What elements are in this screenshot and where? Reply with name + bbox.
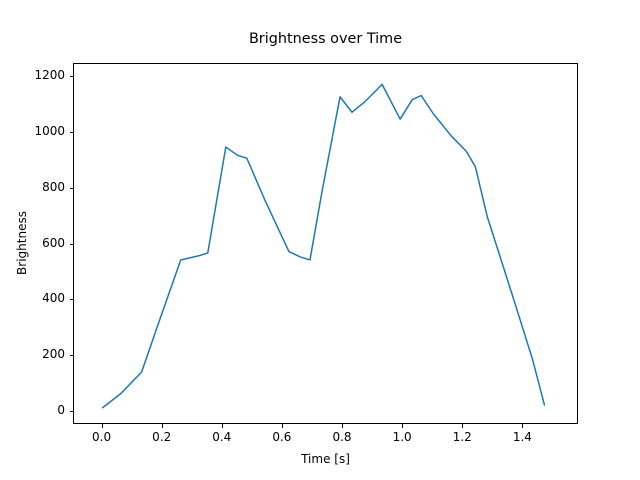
x-tick-label: 0.2: [132, 430, 192, 444]
y-tick-label: 400: [0, 291, 65, 305]
x-tick-label: 0.0: [72, 430, 132, 444]
x-tick-mark: [162, 424, 163, 428]
chart-figure: Brightness over Time 0200400600800100012…: [0, 0, 640, 480]
x-tick-label: 1.4: [492, 430, 552, 444]
y-tick-label: 1000: [0, 124, 65, 138]
y-tick-label: 200: [0, 347, 65, 361]
x-tick-label: 0.4: [192, 430, 252, 444]
y-tick-mark: [70, 244, 74, 245]
data-line-svg: [74, 64, 579, 425]
y-tick-mark: [70, 132, 74, 133]
x-tick-mark: [402, 424, 403, 428]
y-tick-label: 600: [0, 236, 65, 250]
y-tick-mark: [70, 188, 74, 189]
y-tick-label: 800: [0, 180, 65, 194]
y-tick-label: 1200: [0, 68, 65, 82]
x-tick-label: 1.0: [372, 430, 432, 444]
x-axis-label: Time [s]: [73, 452, 578, 466]
x-tick-mark: [102, 424, 103, 428]
chart-title: Brightness over Time: [73, 30, 578, 48]
y-tick-mark: [70, 355, 74, 356]
y-tick-mark: [70, 76, 74, 77]
y-tick-label: 0: [0, 403, 65, 417]
plot-area: [73, 63, 578, 424]
x-tick-label: 0.6: [252, 430, 312, 444]
x-tick-mark: [522, 424, 523, 428]
x-tick-mark: [222, 424, 223, 428]
y-axis-label: Brightness: [15, 183, 29, 303]
y-tick-mark: [70, 299, 74, 300]
x-tick-mark: [342, 424, 343, 428]
brightness-line: [103, 84, 545, 407]
x-tick-label: 1.2: [432, 430, 492, 444]
x-tick-label: 0.8: [312, 430, 372, 444]
y-tick-mark: [70, 411, 74, 412]
x-tick-mark: [462, 424, 463, 428]
x-tick-mark: [282, 424, 283, 428]
